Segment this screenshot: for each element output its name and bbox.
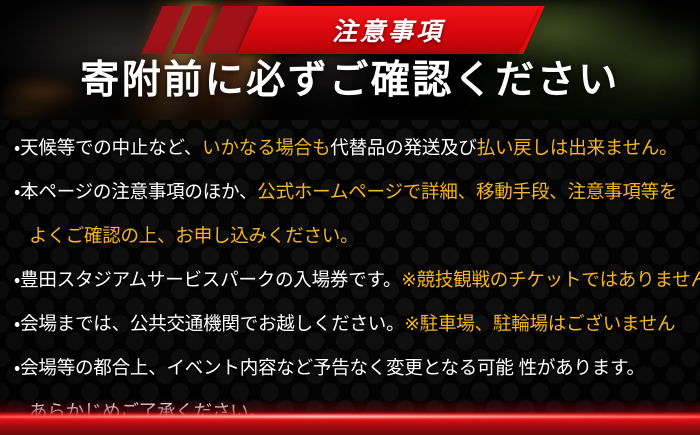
notice-line: よくご確認の上、お申し込みください。 — [14, 214, 686, 258]
notice-text-gold: 払い戻しは出来ません。 — [477, 137, 678, 158]
notice-banner: 注意事項 寄附前に必ずご確認ください ・天候等での中止など、いかなる場合も代替品… — [0, 0, 700, 435]
notice-text-white: 会場等の都合上、イベント内容など予告なく変更となる可能 性があります。 — [20, 357, 645, 378]
notice-line: ・天候等での中止など、いかなる場合も代替品の発送及び払い戻しは出来ません。 — [14, 126, 686, 170]
bottom-accent-bar — [0, 399, 700, 435]
ribbon-label: 注意事項 — [248, 6, 528, 54]
notice-text-gold: よくご確認の上、お申し込みください。 — [29, 225, 358, 246]
notice-text-white: 本ページの注意事項のほか、 — [20, 181, 257, 202]
notice-text-white: 代替品の発送及び — [330, 137, 476, 158]
notice-text-gold: ※競技観戦のチケットではありません。 — [401, 269, 700, 290]
notice-line: ・本ページの注意事項のほか、公式ホームページで詳細、移動手段、注意事項等を — [14, 170, 686, 214]
notice-text-gold: いかなる場合も — [202, 137, 330, 158]
notice-line: ・会場までは、公共交通機関でお越しください。※駐車場、駐輪場はございません — [14, 302, 686, 346]
notice-line: ・会場等の都合上、イベント内容など予告なく変更となる可能 性があります。 — [14, 346, 686, 390]
title-ribbon: 注意事項 — [0, 6, 700, 54]
notice-text-gold: 公式ホームページで詳細、移動手段、注意事項等を — [257, 181, 677, 202]
notice-text-white: 豊田スタジアムサービスパークの入場券です。 — [20, 269, 401, 290]
notice-list: ・天候等での中止など、いかなる場合も代替品の発送及び払い戻しは出来ません。・本ペ… — [0, 126, 700, 435]
notice-text-white: 会場までは、公共交通機関でお越しください。 — [20, 313, 404, 334]
notice-text-white: 天候等での中止など、 — [20, 137, 202, 158]
notice-line: ・豊田スタジアムサービスパークの入場券です。※競技観戦のチケットではありません。 — [14, 258, 686, 302]
page-title: 寄附前に必ずご確認ください — [0, 55, 700, 107]
notice-text-gold: ※駐車場、駐輪場はございません — [404, 313, 675, 334]
